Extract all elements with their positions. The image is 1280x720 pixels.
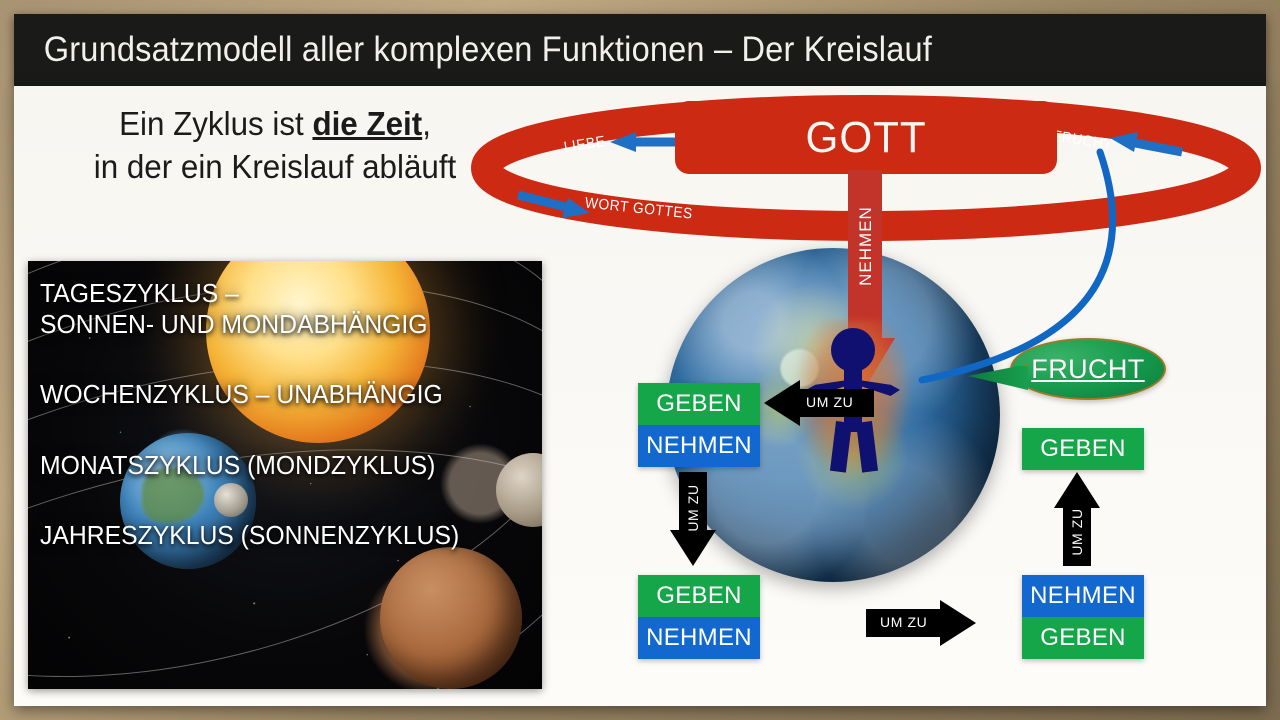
um-zu-label: UM ZU bbox=[685, 477, 701, 539]
box-cell-geben: GEBEN bbox=[638, 383, 760, 425]
liebe-arrow-icon bbox=[610, 132, 683, 152]
box-cell-nehmen: NEHMEN bbox=[638, 425, 760, 467]
box-cell-geben: GEBEN bbox=[638, 575, 760, 617]
box-cell-geben: GEBEN bbox=[1022, 617, 1144, 659]
gott-banner: GOTT bbox=[675, 101, 1057, 174]
frucht-arrow-icon bbox=[1110, 132, 1182, 152]
list-item: MONATSZYKLUS (MONDZYKLUS) bbox=[40, 451, 517, 482]
wort-gottes-arrow-icon bbox=[518, 195, 590, 218]
list-item: TAGESZYKLUS – SONNEN- UND MONDABHÄNGIG bbox=[40, 279, 517, 340]
um-zu-label: UM ZU bbox=[1069, 501, 1085, 563]
arrow-head-icon bbox=[764, 380, 800, 426]
box-cell-nehmen: NEHMEN bbox=[1022, 575, 1144, 617]
page-title: Grundsatzmodell aller komplexen Funktion… bbox=[14, 30, 932, 70]
headline-line1-emphasis: die Zeit bbox=[312, 105, 422, 142]
cycle-line1: JAHRESZYKLUS (SONNENZYKLUS) bbox=[40, 522, 459, 550]
cycle-diagram: LIEBE WORT GOTTES FRUCHT GOTT NEHMEN FRU… bbox=[470, 90, 1270, 702]
frucht-bubble: FRUCHT bbox=[1010, 338, 1166, 400]
nehmen-arrow-label: NEHMEN bbox=[856, 176, 876, 316]
gott-label: GOTT bbox=[805, 113, 926, 163]
cycle-line1: MONATSZYKLUS (MONDZYKLUS) bbox=[40, 452, 435, 480]
box-right-bottom: NEHMEN GEBEN bbox=[1022, 575, 1144, 659]
um-zu-arrow-left: UM ZU bbox=[764, 380, 874, 426]
headline-line1-pre: Ein Zyklus ist bbox=[119, 105, 312, 142]
arrow-head-icon bbox=[940, 600, 976, 646]
ring-label-liebe: LIEBE bbox=[563, 133, 607, 156]
slide-root: Grundsatzmodell aller komplexen Funktion… bbox=[0, 0, 1280, 720]
box-left-bottom: GEBEN NEHMEN bbox=[638, 575, 760, 659]
title-bar: Grundsatzmodell aller komplexen Funktion… bbox=[14, 14, 1266, 86]
cycle-line1: TAGESZYKLUS – bbox=[40, 280, 239, 308]
space-image-panel: TAGESZYKLUS – SONNEN- UND MONDABHÄNGIG W… bbox=[28, 261, 542, 689]
box-right-top: GEBEN bbox=[1022, 428, 1144, 470]
box-cell-geben: GEBEN bbox=[1022, 428, 1144, 470]
ring-label-wort-gottes: WORT GOTTES bbox=[584, 194, 693, 222]
person-head bbox=[831, 328, 875, 372]
list-item: WOCHENZYKLUS – UNABHÄNGIG bbox=[40, 380, 517, 411]
um-zu-label: UM ZU bbox=[806, 394, 853, 410]
cycle-line2: SONNEN- UND MONDABHÄNGIG bbox=[40, 310, 517, 341]
box-cell-nehmen: NEHMEN bbox=[638, 617, 760, 659]
box-left-top: GEBEN NEHMEN bbox=[638, 383, 760, 467]
um-zu-arrow-up: UM ZU bbox=[1054, 472, 1100, 566]
frucht-bubble-label: FRUCHT bbox=[1031, 354, 1144, 385]
headline-line2: in der ein Kreislauf abläuft bbox=[52, 147, 499, 188]
cycle-list: TAGESZYKLUS – SONNEN- UND MONDABHÄNGIG W… bbox=[40, 279, 532, 592]
headline: Ein Zyklus ist die Zeit, in der ein Krei… bbox=[52, 104, 499, 187]
um-zu-arrow-right: UM ZU bbox=[866, 600, 976, 646]
ring-label-frucht: FRUCHT bbox=[1052, 127, 1114, 153]
list-item: JAHRESZYKLUS (SONNENZYKLUS) bbox=[40, 521, 517, 552]
um-zu-label: UM ZU bbox=[880, 614, 927, 630]
um-zu-arrow-down: UM ZU bbox=[670, 472, 716, 566]
cycle-line1: WOCHENZYKLUS – UNABHÄNGIG bbox=[40, 381, 443, 409]
headline-line1-post: , bbox=[422, 105, 431, 142]
